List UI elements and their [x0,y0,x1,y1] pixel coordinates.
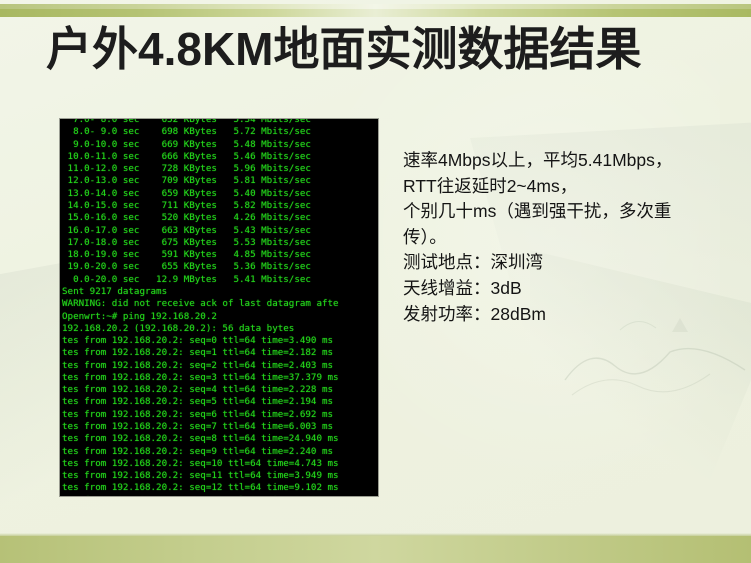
terminal-line: 13.0-14.0 sec 659 KBytes 5.40 Mbits/sec [60,188,378,200]
terminal-line: 17.0-18.0 sec 675 KBytes 5.53 Mbits/sec [60,237,378,249]
terminal-line: tes from 192.168.20.2: seq=10 ttl=64 tim… [60,458,378,470]
summary-line: 个别几十ms（遇到强干扰，多次重 [403,199,735,225]
terminal-line: WARNING: did not receive ack of last dat… [60,298,378,310]
terminal-line: 9.0-10.0 sec 669 KBytes 5.48 Mbits/sec [60,139,378,151]
terminal-line: 11.0-12.0 sec 728 KBytes 5.96 Mbits/sec [60,163,378,175]
terminal-line: tes from 192.168.20.2: seq=1 ttl=64 time… [60,347,378,359]
bottom-accent-bar [0,536,751,563]
summary-line: 发射功率：28dBm [403,302,735,328]
terminal-line: tes from 192.168.20.2: seq=11 ttl=64 tim… [60,470,378,482]
terminal-line: 10.0-11.0 sec 666 KBytes 5.46 Mbits/sec [60,151,378,163]
terminal-line: 18.0-19.0 sec 591 KBytes 4.85 Mbits/sec [60,249,378,261]
terminal-window: 7.0- 8.0 sec 652 KBytes 5.34 Mbits/sec 8… [60,119,378,496]
summary-line: RTT往返延时2~4ms， [403,174,735,200]
summary-line: 测试地点：深圳湾 [403,250,735,276]
terminal-line: tes from 192.168.20.2: seq=12 ttl=64 tim… [60,482,378,494]
terminal-line: tes from 192.168.20.2: seq=9 ttl=64 time… [60,446,378,458]
top-accent-bar-sheen [0,4,751,9]
terminal-line: 15.0-16.0 sec 520 KBytes 4.26 Mbits/sec [60,212,378,224]
terminal-line: 12.0-13.0 sec 709 KBytes 5.81 Mbits/sec [60,175,378,187]
terminal-line: 14.0-15.0 sec 711 KBytes 5.82 Mbits/sec [60,200,378,212]
terminal-line: tes from 192.168.20.2: seq=4 ttl=64 time… [60,384,378,396]
summary-line: 传）。 [403,225,735,251]
terminal-line: 192.168.20.2 (192.168.20.2): 56 data byt… [60,323,378,335]
terminal-line: Openwrt:~# ping 192.168.20.2 [60,311,378,323]
terminal-line: 19.0-20.0 sec 655 KBytes 5.36 Mbits/sec [60,261,378,273]
summary-line: 天线增益：3dB [403,276,735,302]
terminal-line: Sent 9217 datagrams [60,286,378,298]
terminal-line: 16.0-17.0 sec 663 KBytes 5.43 Mbits/sec [60,225,378,237]
terminal-line: tes from 192.168.20.2: seq=5 ttl=64 time… [60,396,378,408]
summary-text-block: 速率4Mbps以上，平均5.41Mbps，RTT往返延时2~4ms，个别几十ms… [403,148,735,327]
terminal-line: tes from 192.168.20.2: seq=6 ttl=64 time… [60,409,378,421]
terminal-line: tes from 192.168.20.2: seq=13 ttl=64 tim… [60,495,378,496]
terminal-output: 7.0- 8.0 sec 652 KBytes 5.34 Mbits/sec 8… [60,119,378,496]
terminal-line: 8.0- 9.0 sec 698 KBytes 5.72 Mbits/sec [60,126,378,138]
terminal-line: tes from 192.168.20.2: seq=8 ttl=64 time… [60,433,378,445]
terminal-line: tes from 192.168.20.2: seq=0 ttl=64 time… [60,335,378,347]
terminal-line: tes from 192.168.20.2: seq=2 ttl=64 time… [60,360,378,372]
terminal-line: tes from 192.168.20.2: seq=3 ttl=64 time… [60,372,378,384]
summary-line: 速率4Mbps以上，平均5.41Mbps， [403,148,735,174]
slide-canvas: 户外4.8KM地面实测数据结果 7.0- 8.0 sec 652 KBytes … [0,0,751,563]
terminal-line: tes from 192.168.20.2: seq=7 ttl=64 time… [60,421,378,433]
terminal-line: 0.0-20.0 sec 12.9 MBytes 5.41 Mbits/sec [60,274,378,286]
slide-title: 户外4.8KM地面实测数据结果 [46,22,641,77]
